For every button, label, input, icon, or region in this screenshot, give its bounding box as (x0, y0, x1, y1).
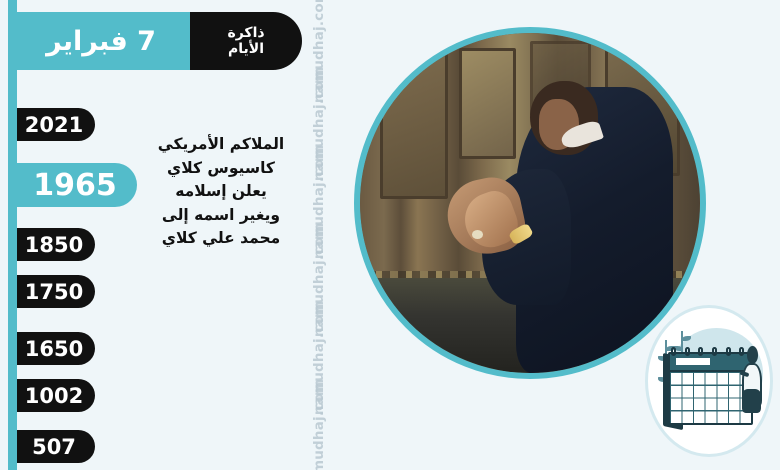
person-head (747, 346, 758, 364)
person-illustration (736, 346, 768, 416)
timeline-rail (8, 0, 17, 470)
hero-photo (354, 27, 706, 379)
year-pill-1965[interactable]: 1965 (17, 163, 137, 207)
spiral-ring-icon (726, 347, 731, 356)
wall-panel (459, 48, 517, 159)
brand-label-line2: الأيام (228, 41, 264, 57)
infographic-card: 7 فبراير ذاكرة الأيام 2021 1965 1850 175… (0, 0, 780, 470)
watermark-text: namudhaj.com (311, 0, 327, 111)
hero-photo-image (360, 33, 700, 373)
watermark-text: namudhaj.com (311, 371, 327, 470)
spiral-ring-icon (685, 347, 690, 356)
calendar-title-slot (676, 358, 710, 365)
person-arm (739, 370, 749, 377)
watermark-text: namudhaj.com (311, 59, 327, 189)
article-line-3: يعلن إسلامه (132, 180, 310, 204)
person-skirt (742, 389, 760, 413)
year-pill-1002[interactable]: 1002 (17, 379, 95, 412)
watermark-text: namudhaj.com (311, 293, 327, 423)
article-text: الملاكم الأمريكي كاسيوس كلاي يعلن إسلامه… (132, 133, 310, 251)
year-pill-1750[interactable]: 1750 (17, 275, 95, 308)
date-label: 7 فبراير (46, 28, 162, 55)
watermark-text: namudhaj.com (311, 137, 327, 267)
article-line-1: الملاكم الأمريكي (132, 133, 310, 157)
brand-badge: ذاكرة الأيام (190, 12, 302, 70)
year-pill-1650[interactable]: 1650 (17, 332, 95, 365)
article-line-2: كاسيوس كلاي (132, 157, 310, 181)
spiral-ring-icon (712, 347, 717, 356)
calendar-badge-icon (645, 305, 773, 457)
spiral-ring-icon (698, 347, 703, 356)
article-line-5: محمد علي كلاي (132, 227, 310, 251)
watermark-text: namudhaj.com (311, 215, 327, 345)
wall-panel (380, 53, 448, 199)
year-pill-1850[interactable]: 1850 (17, 228, 95, 261)
year-pill-2021[interactable]: 2021 (17, 108, 95, 141)
brand-label-line1: ذاكرة (227, 25, 264, 41)
date-banner: 7 فبراير (8, 12, 200, 70)
year-pill-507[interactable]: 507 (17, 430, 95, 463)
spiral-ring-icon (671, 347, 676, 356)
article-line-4: ويغير اسمه إلى (132, 204, 310, 228)
figure-ring (472, 230, 483, 239)
